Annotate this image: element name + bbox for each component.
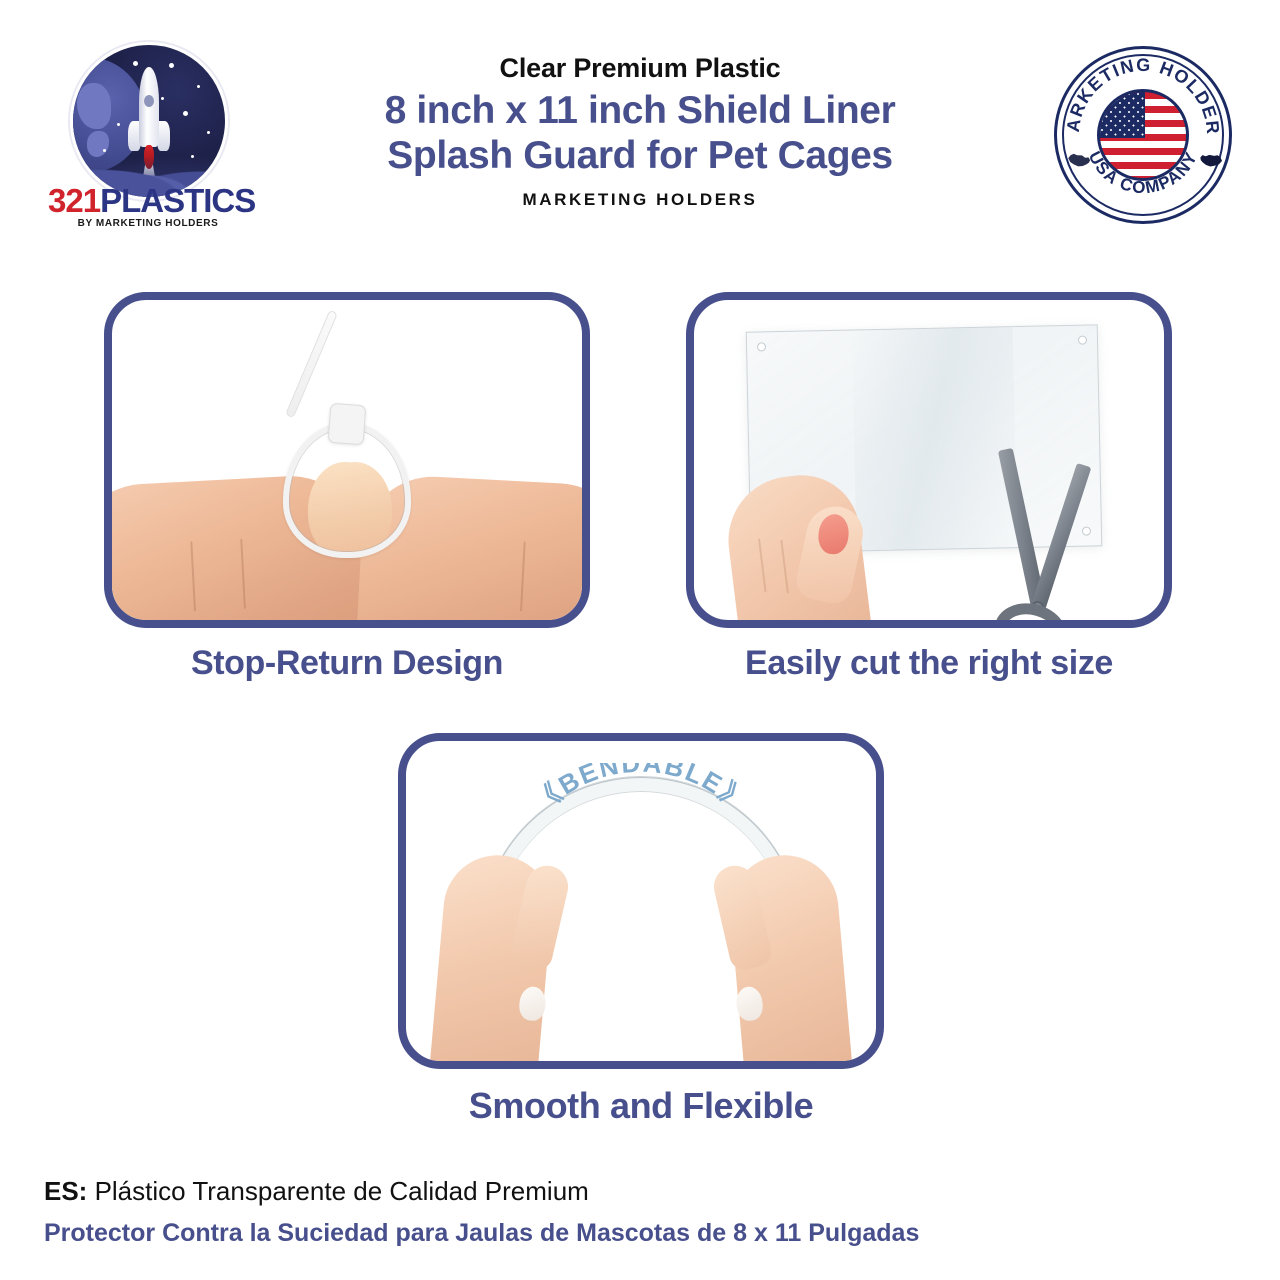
knuckle-line [758,538,767,592]
product-title: 8 inch x 11 inch Shield Liner Splash Gua… [280,88,1000,178]
star-icon [207,131,210,134]
hand-right [726,851,854,1069]
zip-tie-head [328,403,367,445]
zip-tie-tail [286,311,336,417]
badge-curved-text: MARKETING HOLDERS USA COMPANY [1054,46,1232,224]
svg-text:USA COMPANY: USA COMPANY [1085,148,1202,197]
logo-wordmark-word: PLASTICS [100,182,255,219]
svg-text:MARKETING HOLDERS: MARKETING HOLDERS [1054,46,1223,136]
brand-subtitle: MARKETING HOLDERS [280,190,1000,210]
mounting-hole [757,342,766,351]
hand-left [428,851,556,1069]
footer-line-2: Protector Contra la Suciedad para Jaulas… [44,1215,1144,1253]
feature-label-cut-to-size: Easily cut the right size [686,644,1172,683]
footer-line-1: ES: Plástico Transparente de Calidad Pre… [44,1172,1144,1211]
usa-company-badge: MARKETING HOLDERS USA COMPANY [1054,46,1232,224]
finger-crease [190,541,196,611]
finger-crease [240,539,246,609]
star-icon [197,85,200,88]
footer-spanish-text: ES: Plástico Transparente de Calidad Pre… [44,1172,1144,1253]
mounting-hole [1082,527,1091,536]
logo-wordmark-number: 321 [48,182,100,219]
star-icon [183,111,188,116]
finger-crease [520,542,526,612]
feature-card-smooth-flexible: 《BENDABLE》 [398,733,884,1069]
svg-text:《BENDABLE》: 《BENDABLE》 [528,763,754,818]
rocket-body [139,67,159,147]
fingernail [735,986,764,1022]
footer-lang-code: ES: [44,1176,87,1206]
infographic-page: 321PLASTICS BY MARKETING HOLDERS Clear P… [0,0,1280,1280]
sheet-gloss [852,327,1018,550]
painted-fingernail [817,513,851,556]
product-title-line1: 8 inch x 11 inch Shield Liner [280,88,1000,133]
thumb [793,501,868,607]
zip-tie-photo [112,300,582,620]
feature-label-stop-return: Stop-Return Design [104,644,590,683]
feature-card-cut-to-size [686,292,1172,628]
star-icon [117,123,120,126]
fingernail [518,986,547,1022]
star-icon [133,61,138,66]
brand-logo-321plastics: 321PLASTICS BY MARKETING HOLDERS [48,42,248,222]
feature-label-smooth-flexible: Smooth and Flexible [398,1085,884,1127]
title-eyebrow: Clear Premium Plastic [280,52,1000,86]
header: 321PLASTICS BY MARKETING HOLDERS Clear P… [0,0,1280,250]
rocket-window [144,95,154,107]
logo-tagline: BY MARKETING HOLDERS [48,218,248,229]
title-block: Clear Premium Plastic 8 inch x 11 inch S… [280,52,1000,210]
feature-card-stop-return [104,292,590,628]
footer-line-1-text: Plástico Transparente de Calidad Premium [87,1176,588,1206]
cut-sheet-photo [694,300,1164,620]
rocket-earth-icon [70,42,228,200]
logo-wordmark: 321PLASTICS [48,184,248,217]
knuckle-line [780,540,789,594]
bendable-sheet-photo: 《BENDABLE》 [406,741,876,1061]
product-title-line2: Splash Guard for Pet Cages [280,133,1000,178]
mounting-hole [1078,336,1087,345]
